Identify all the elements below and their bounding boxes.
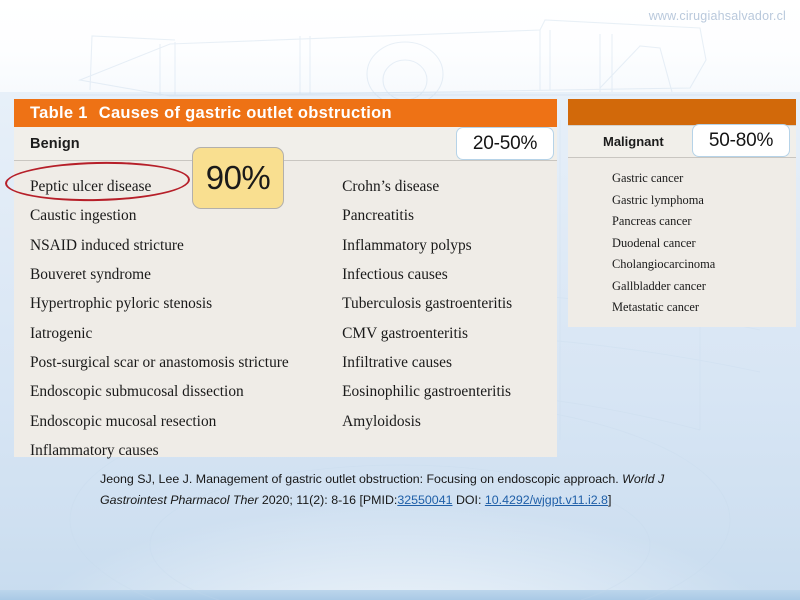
list-item: Gastric lymphoma — [612, 190, 796, 212]
list-item: Amyloidosis — [342, 406, 557, 435]
benign-percent-text: 20-50% — [473, 133, 537, 155]
list-item: Inflammatory polyps — [342, 231, 557, 260]
malignant-header-bar — [568, 99, 796, 125]
list-item: Iatrogenic — [30, 318, 332, 347]
malignant-percent-callout: 50-80% — [692, 124, 790, 157]
list-item: CMV gastroenteritis — [342, 318, 557, 347]
list-item: Post-surgical scar or anastomosis strict… — [30, 348, 332, 377]
citation-close-bracket: ] — [608, 493, 611, 507]
malignant-percent-text: 50-80% — [709, 130, 773, 152]
peptic-ulcer-percent-callout: 90% — [192, 147, 284, 209]
malignant-subheader-label: Malignant — [568, 134, 664, 149]
table-title: Causes of gastric outlet obstruction — [99, 104, 392, 122]
list-item: Gallbladder cancer — [612, 276, 796, 298]
list-item: Tuberculosis gastroenteritis — [342, 289, 557, 318]
list-item: Crohn’s disease — [342, 172, 557, 201]
list-item: NSAID induced stricture — [30, 231, 332, 260]
peptic-ulcer-percent-text: 90% — [206, 159, 271, 197]
list-item: Duodenal cancer — [612, 233, 796, 255]
list-item: Cholangiocarcinoma — [612, 254, 796, 276]
list-item: Pancreatitis — [342, 201, 557, 230]
list-item: Bouveret syndrome — [30, 260, 332, 289]
benign-column-right: Crohn’s disease Pancreatitis Inflammator… — [332, 161, 557, 457]
list-item: Inflammatory causes — [30, 436, 332, 465]
list-item: Infectious causes — [342, 260, 557, 289]
list-item: Infiltrative causes — [342, 348, 557, 377]
citation-title: Management of gastric outlet obstruction… — [196, 472, 619, 486]
benign-column-left: Peptic ulcer disease Caustic ingestion N… — [14, 161, 332, 457]
citation-text: Jeong SJ, Lee J. Management of gastric o… — [100, 469, 700, 511]
benign-percent-callout: 20-50% — [456, 127, 554, 160]
list-item: Gastric cancer — [612, 168, 796, 190]
citation-doi-label: DOI: — [456, 493, 481, 507]
list-item: Hypertrophic pyloric stenosis — [30, 289, 332, 318]
list-item: Metastatic cancer — [612, 297, 796, 319]
malignant-body: Gastric cancer Gastric lymphoma Pancreas… — [568, 158, 796, 319]
slide-canvas: www.cirugiahsalvador.cl Table 1Causes of… — [0, 0, 800, 600]
list-item: Endoscopic submucosal dissection — [30, 377, 332, 406]
benign-body: Peptic ulcer disease Caustic ingestion N… — [14, 161, 557, 457]
pmid-link[interactable]: 32550041 — [397, 493, 452, 507]
table-header-bar: Table 1Causes of gastric outlet obstruct… — [14, 99, 557, 127]
table-header-text: Table 1Causes of gastric outlet obstruct… — [14, 104, 392, 123]
benign-subheader-label: Benign — [14, 136, 80, 152]
citation-pmid-label: [PMID: — [359, 493, 397, 507]
citation-authors: Jeong SJ, Lee J. — [100, 472, 192, 486]
citation-year-volume: 2020; 11(2): — [262, 493, 328, 507]
list-item: Pancreas cancer — [612, 211, 796, 233]
website-watermark: www.cirugiahsalvador.cl — [649, 9, 786, 23]
list-item: Caustic ingestion — [30, 201, 332, 230]
citation-pages: 8-16 — [331, 493, 356, 507]
table-number: Table 1 — [30, 104, 99, 122]
list-item: Eosinophilic gastroenteritis — [342, 377, 557, 406]
list-item: Endoscopic mucosal resection — [30, 406, 332, 435]
doi-link[interactable]: 10.4292/wjgpt.v11.i2.8 — [485, 493, 608, 507]
